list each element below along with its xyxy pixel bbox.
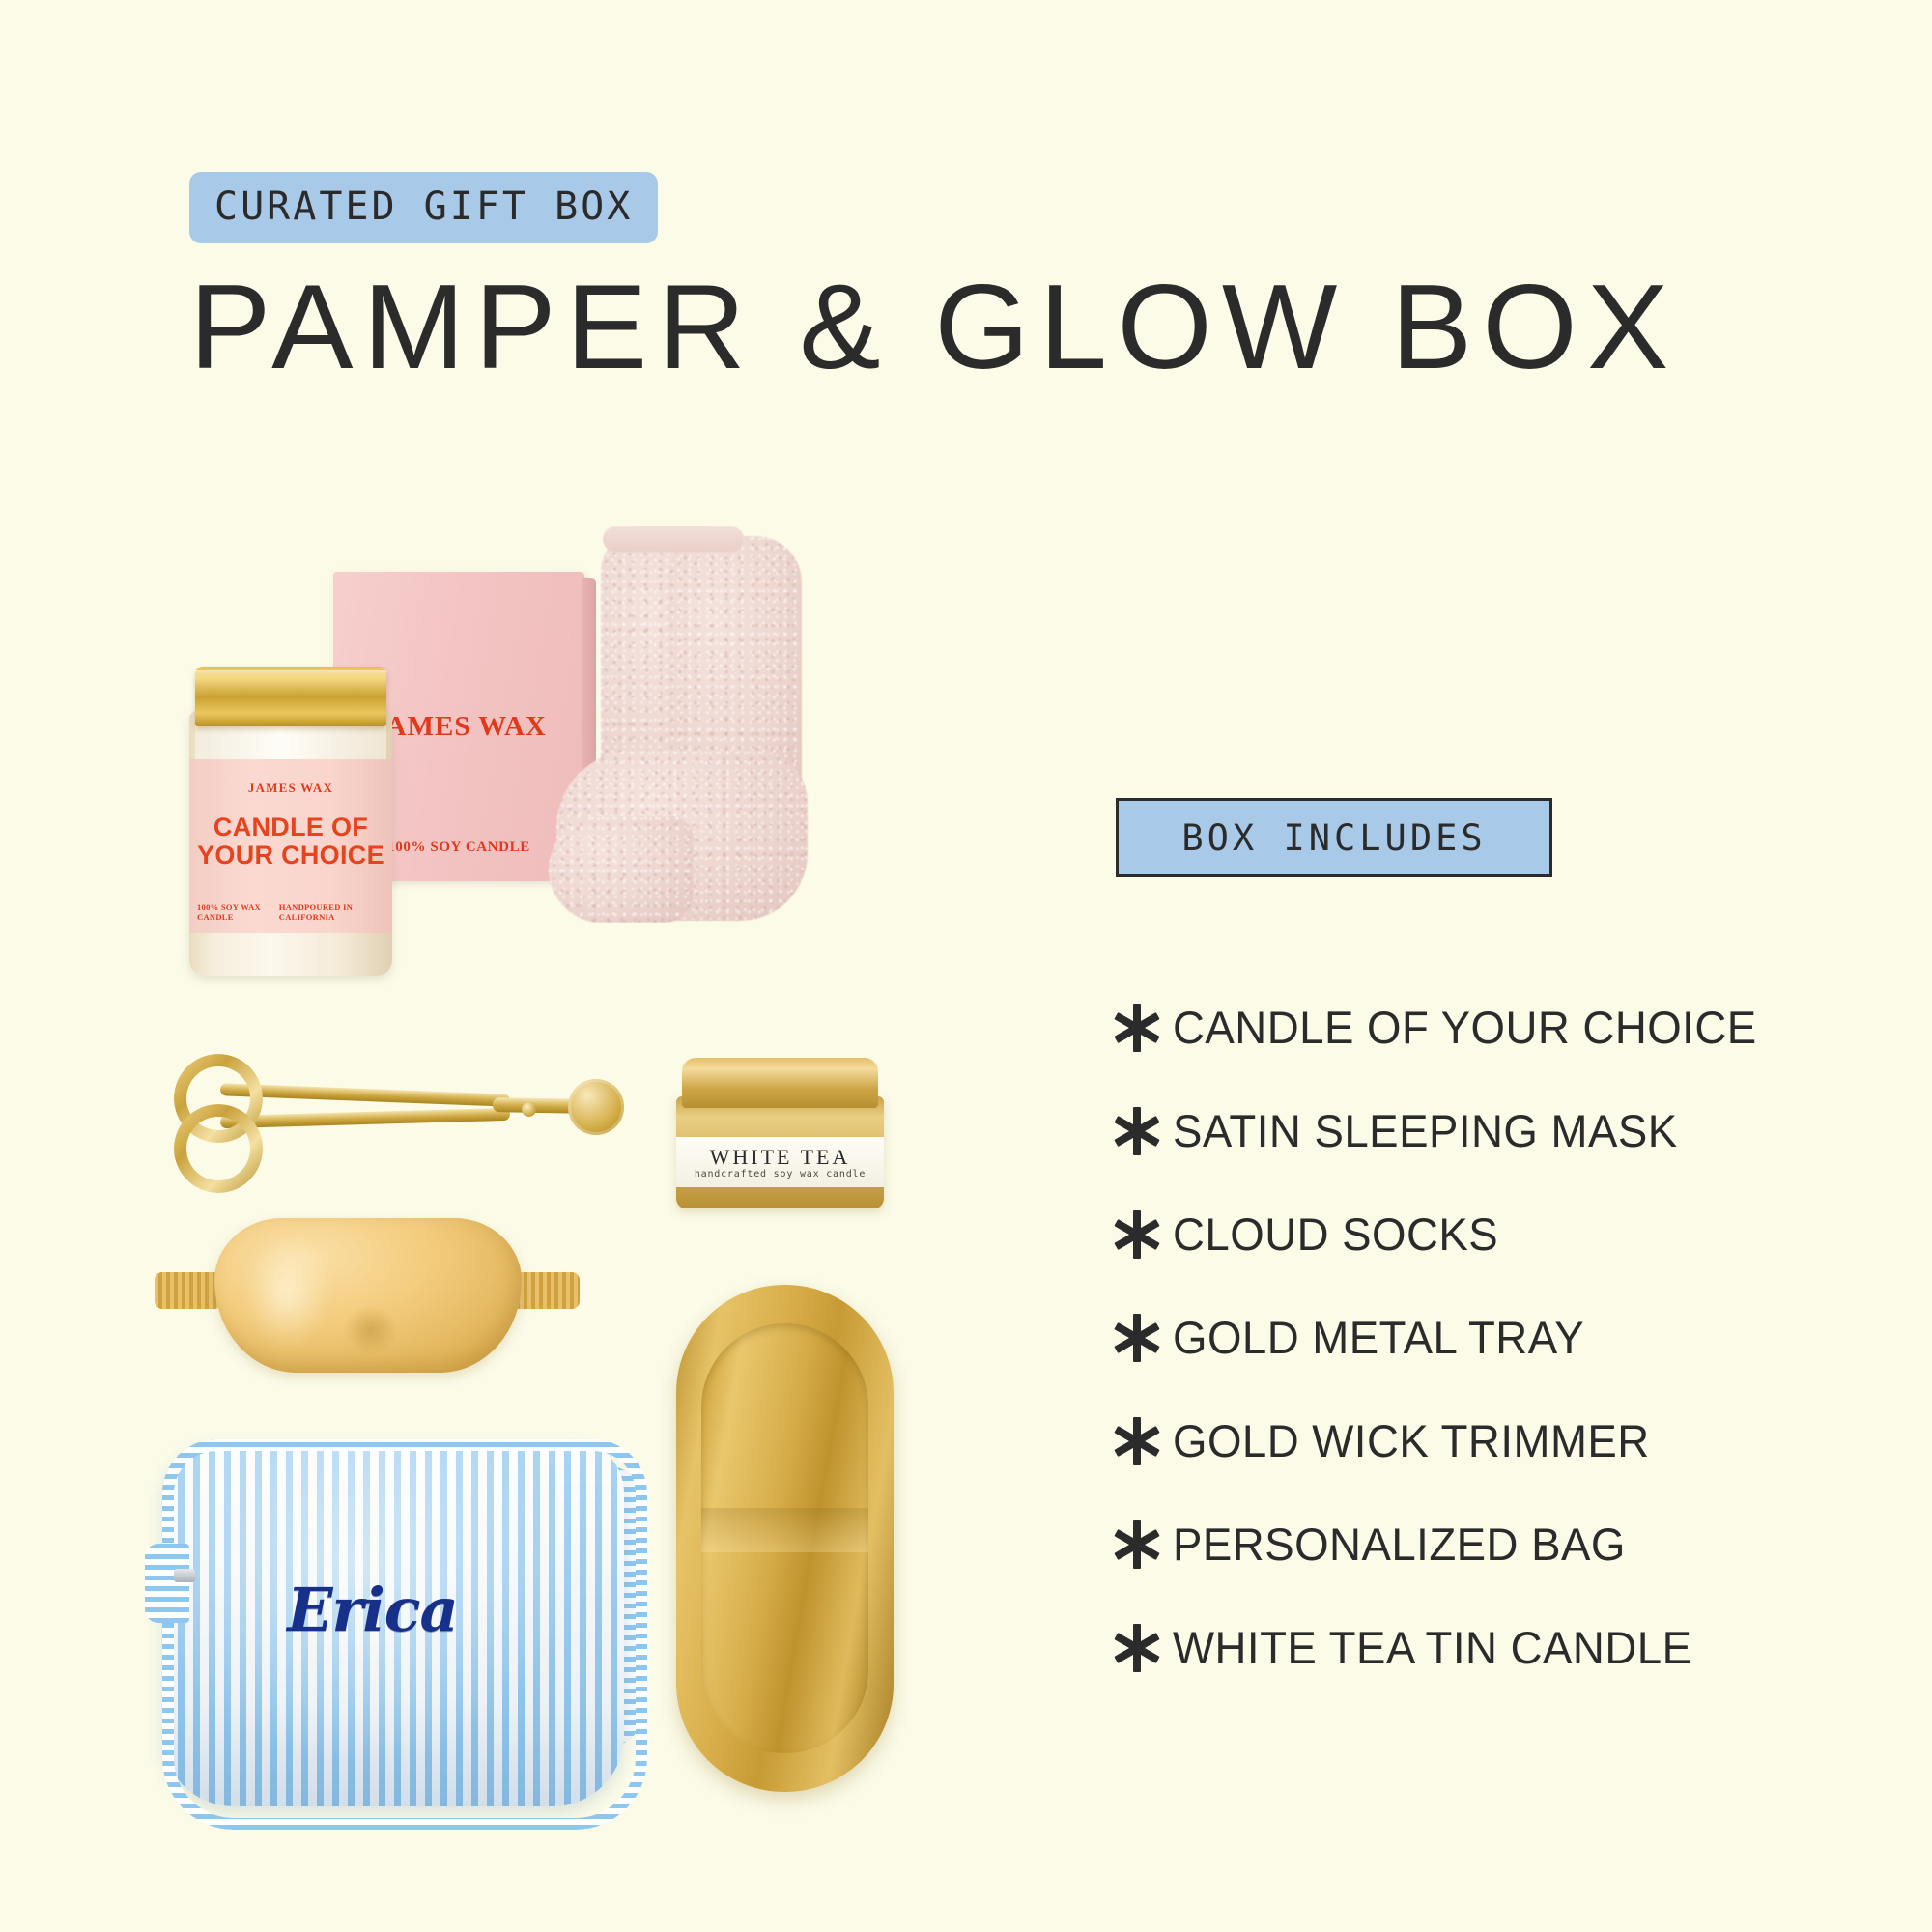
product-personalized-bag: Erica xyxy=(145,1439,642,1816)
asterisk-icon xyxy=(1101,1106,1173,1156)
list-item: GOLD WICK TRIMMER xyxy=(1101,1389,1874,1492)
list-item-label: PERSONALIZED BAG xyxy=(1173,1518,1626,1571)
list-item: CANDLE OF YOUR CHOICE xyxy=(1101,976,1874,1079)
list-item-label: GOLD WICK TRIMMER xyxy=(1173,1414,1650,1467)
tin-label-band: WHITE TEA handcrafted soy wax candle xyxy=(676,1137,884,1187)
trimmer-arm-upper xyxy=(220,1083,510,1107)
candle-jar-footer-left: 100% SOY WAX CANDLE xyxy=(197,902,279,922)
sleep-mask-strap-left xyxy=(155,1272,222,1309)
sleep-mask-sheen xyxy=(243,1234,330,1350)
candle-jar-main-text: CANDLE OF YOUR CHOICE xyxy=(189,813,392,869)
eyebrow-badge: CURATED GIFT BOX xyxy=(189,172,658,243)
trimmer-handle-ring-bottom xyxy=(174,1104,263,1193)
sock-cuff xyxy=(603,526,744,552)
trimmer-arm-lower xyxy=(220,1108,510,1128)
candle-jar-main-line-2: YOUR CHOICE xyxy=(189,841,392,869)
asterisk-icon xyxy=(1101,1003,1173,1053)
list-item: WHITE TEA TIN CANDLE xyxy=(1101,1596,1874,1699)
product-wick-trimmer xyxy=(174,1048,628,1174)
asterisk-icon xyxy=(1101,1520,1173,1570)
gift-box-poster: CURATED GIFT BOX PAMPER & GLOW BOX JAMES… xyxy=(0,0,1932,1932)
sleep-mask-strap-right xyxy=(512,1272,580,1309)
product-tin-candle: WHITE TEA handcrafted soy wax candle xyxy=(676,1058,884,1212)
sock-toe xyxy=(549,816,694,923)
asterisk-icon xyxy=(1101,1623,1173,1673)
candle-jar-main-line-1: CANDLE OF xyxy=(189,813,392,841)
tin-lid xyxy=(682,1058,878,1108)
candle-jar-label: JAMES WAX CANDLE OF YOUR CHOICE 100% SOY… xyxy=(189,759,392,933)
list-item-label: GOLD METAL TRAY xyxy=(1173,1311,1584,1364)
candle-jar-footer: 100% SOY WAX CANDLE HANDPOURED IN CALIFO… xyxy=(197,902,384,922)
product-gold-tray xyxy=(676,1285,894,1792)
list-item-label: WHITE TEA TIN CANDLE xyxy=(1173,1621,1691,1674)
trimmer-pivot-pin xyxy=(522,1102,536,1117)
trimmer-disc-head xyxy=(568,1079,624,1135)
page-title: PAMPER & GLOW BOX xyxy=(189,253,1679,403)
asterisk-icon xyxy=(1101,1313,1173,1363)
tin-label-name: WHITE TEA xyxy=(676,1145,884,1170)
list-item-label: CLOUD SOCKS xyxy=(1173,1207,1498,1261)
tin-label-subtitle: handcrafted soy wax candle xyxy=(676,1169,884,1179)
asterisk-icon xyxy=(1101,1416,1173,1466)
bag-embroidered-name: Erica xyxy=(145,1575,600,1645)
product-sleep-mask xyxy=(155,1212,580,1386)
list-item: PERSONALIZED BAG xyxy=(1101,1492,1874,1596)
list-item-label: CANDLE OF YOUR CHOICE xyxy=(1173,1001,1757,1054)
box-includes-badge: BOX INCLUDES xyxy=(1116,798,1552,877)
candle-jar-footer-right: HANDPOURED IN CALIFORNIA xyxy=(279,902,384,922)
list-item-label: SATIN SLEEPING MASK xyxy=(1173,1104,1678,1157)
product-candle-jar: JAMES WAX CANDLE OF YOUR CHOICE 100% SOY… xyxy=(189,667,392,976)
tray-reflection-band xyxy=(701,1508,868,1552)
asterisk-icon xyxy=(1101,1209,1173,1260)
list-item: SATIN SLEEPING MASK xyxy=(1101,1079,1874,1182)
list-item: CLOUD SOCKS xyxy=(1101,1182,1874,1286)
candle-jar-gold-lid-icon xyxy=(195,667,386,726)
candle-jar-brand: JAMES WAX xyxy=(189,781,392,796)
list-item: GOLD METAL TRAY xyxy=(1101,1286,1874,1389)
product-cloud-socks xyxy=(541,526,831,1009)
box-includes-list: CANDLE OF YOUR CHOICESATIN SLEEPING MASK… xyxy=(1101,976,1874,1699)
